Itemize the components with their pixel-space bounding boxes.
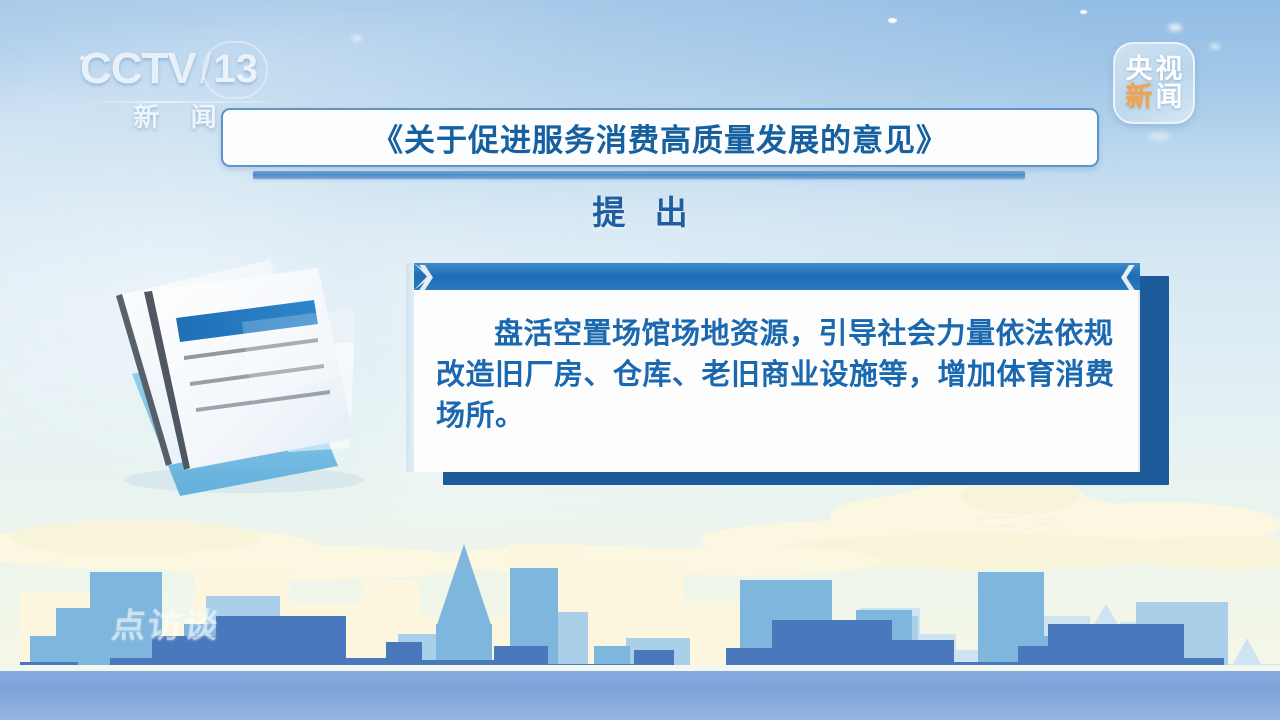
content-body-text: 盘活空置场馆场地资源，引导社会力量依法依规改造旧厂房、仓库、老旧商业设施等，增加… (436, 314, 1116, 438)
badge-row-top: 央 视 (1126, 56, 1183, 83)
headline-subtitle: 提 出 (0, 186, 1280, 234)
cctv-news-badge: 央 视 新 闻 (1113, 42, 1195, 124)
bottom-band (0, 668, 1280, 720)
cloud-dot (1210, 44, 1220, 49)
badge-char-wen: 闻 (1156, 84, 1183, 111)
badge-row-bottom: 新 闻 (1126, 84, 1183, 111)
cctv-wordmark: CCTV (80, 47, 196, 91)
cloud-dot (1168, 24, 1182, 31)
document-stack-illustration (92, 252, 392, 502)
chevron-left-icon: ❮ (1118, 263, 1138, 290)
cloud-dot (888, 18, 897, 23)
badge-char-shi: 视 (1156, 56, 1183, 83)
page-title: 《关于促进服务消费高质量发展的意见》 (372, 115, 948, 160)
document-stack-icon (92, 252, 392, 502)
channel-watermark: 点访谈 (109, 598, 222, 647)
cloud-dot (1148, 132, 1170, 141)
headline-title-box: 《关于促进服务消费高质量发展的意见》 (221, 108, 1099, 167)
cctv-underline (82, 101, 268, 103)
badge-char-xin: 新 (1126, 84, 1153, 111)
cloud-dot (1080, 10, 1087, 14)
content-panel-left-rail (406, 263, 414, 472)
cloud-dot (352, 36, 362, 41)
badge-char-yang: 央 (1126, 56, 1153, 83)
content-panel-body: 盘活空置场馆场地资源，引导社会力量依法依规改造旧厂房、仓库、老旧商业设施等，增加… (414, 290, 1140, 472)
broadcast-graphic-stage: 点访谈 CCTV / 13 新 闻 央 视 新 闻 《关于促进服务消费高质量发展… (0, 0, 1280, 720)
title-underline-bar (253, 171, 1025, 179)
content-panel: ❯ ❮ 盘活空置场馆场地资源，引导社会力量依法依规改造旧厂房、仓库、老旧商业设施… (414, 263, 1140, 472)
cctv-ring-decoration (202, 41, 268, 99)
content-panel-header: ❯ ❮ (414, 263, 1140, 290)
chevron-right-icon: ❯ (416, 263, 436, 290)
